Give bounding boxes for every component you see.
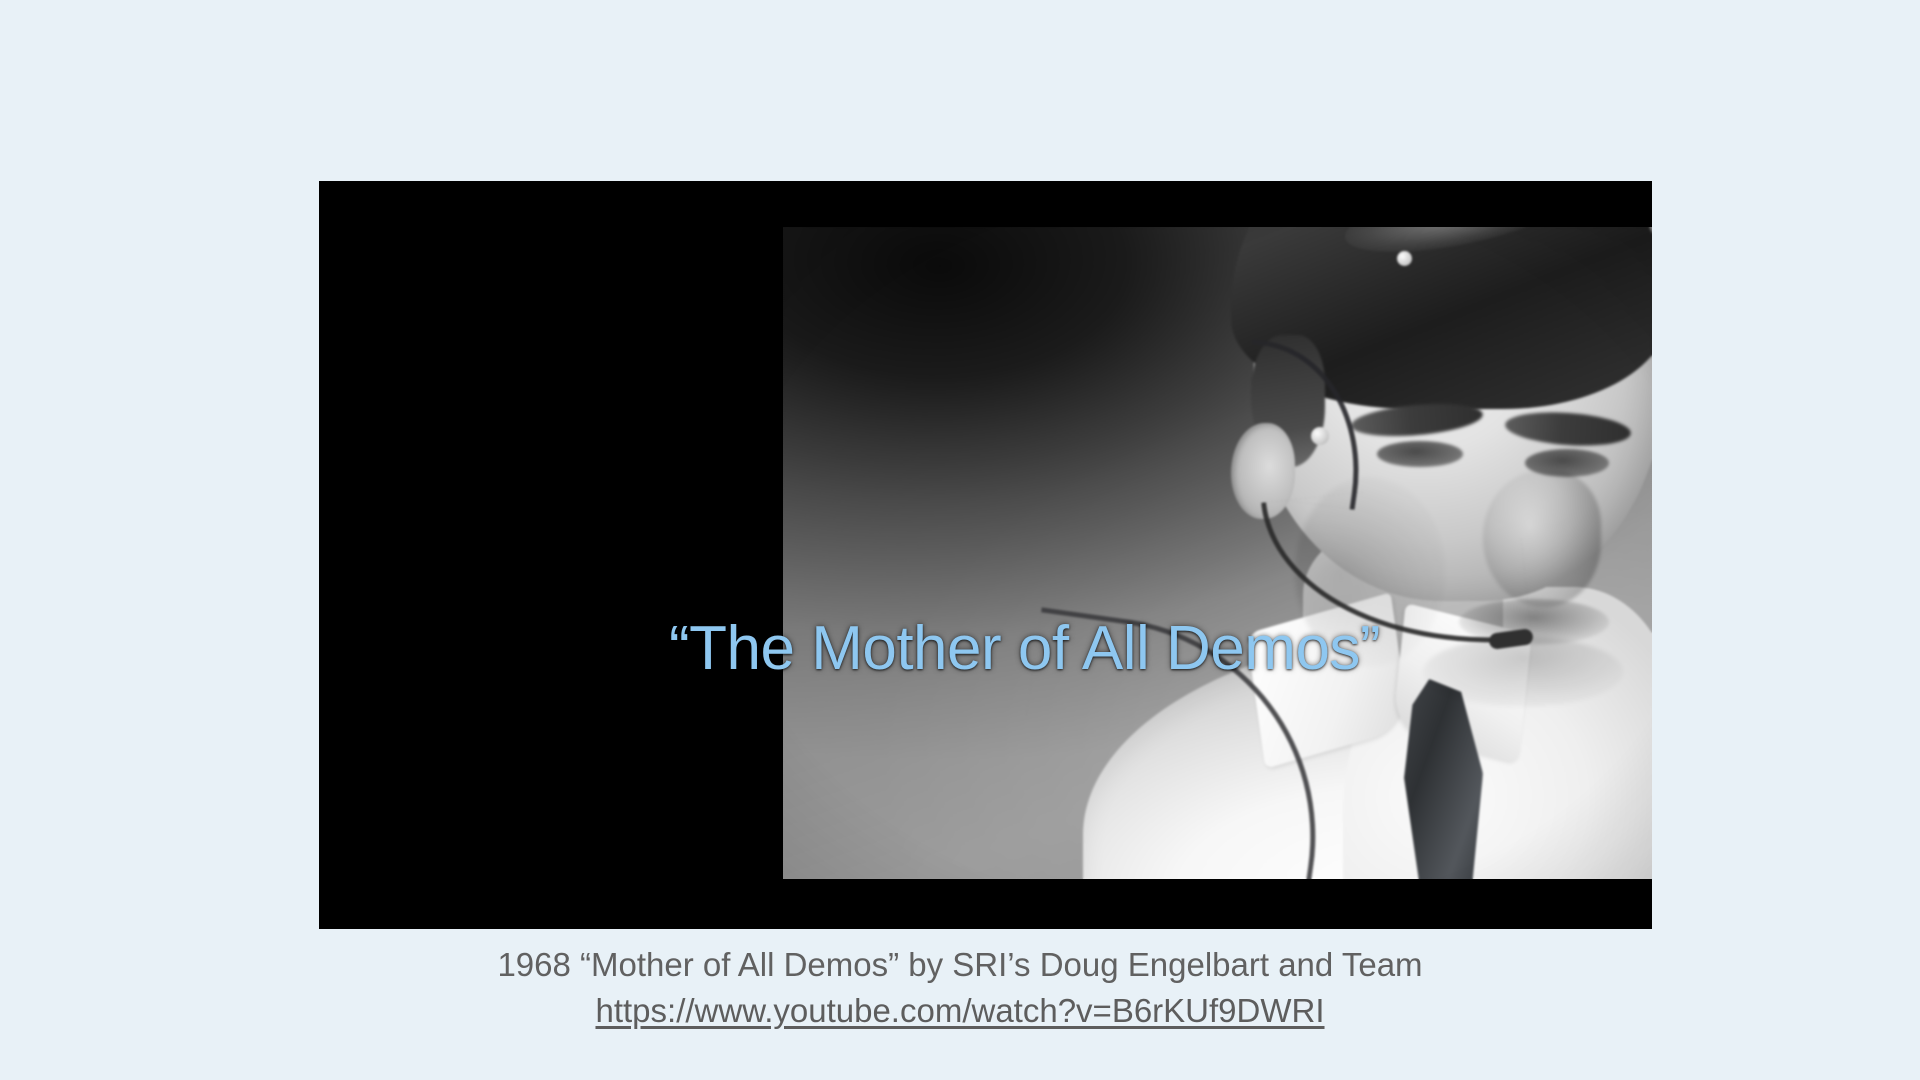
video-player-frame[interactable]: “The Mother of All Demos” [319,181,1652,929]
archival-video-still [783,227,1652,879]
presentation-slide: “The Mother of All Demos” 1968 “Mother o… [0,0,1920,1080]
caption-text: 1968 “Mother of All Demos” by SRI’s Doug… [0,943,1920,987]
speaker-figure [783,227,1652,879]
eye-left [1377,441,1463,467]
chin-shadow [1423,637,1623,707]
headset-clip-upper [1397,251,1412,266]
video-overlay-title: “The Mother of All Demos” [669,613,1380,684]
slide-caption: 1968 “Mother of All Demos” by SRI’s Doug… [0,943,1920,1033]
headset-clip [1311,427,1329,445]
youtube-link[interactable]: https://www.youtube.com/watch?v=B6rKUf9D… [595,989,1324,1033]
